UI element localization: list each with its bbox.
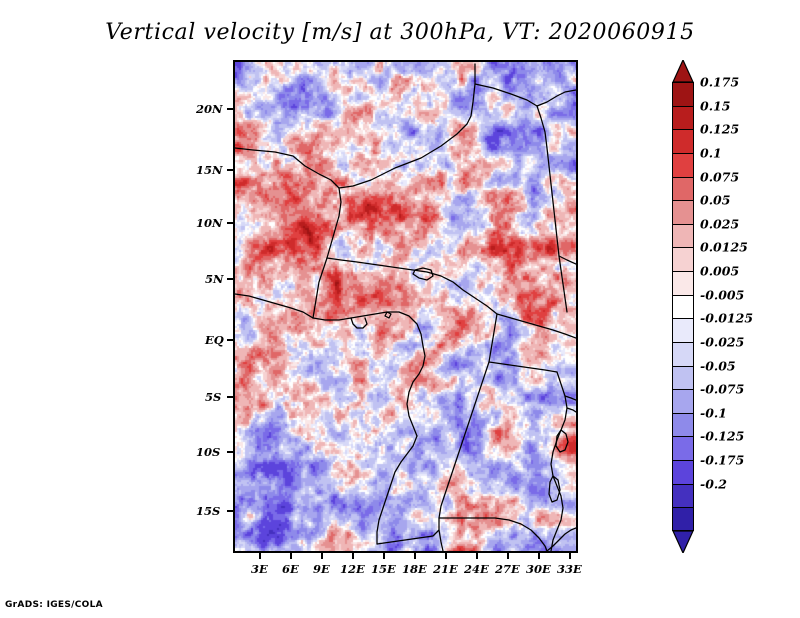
x-tick-mark — [569, 553, 571, 559]
y-axis-label-5S: 5S — [205, 390, 221, 404]
colorbar-band — [672, 129, 694, 153]
x-axis-label-27E: 27E — [495, 562, 520, 576]
y-axis-label-EQ: EQ — [205, 333, 224, 347]
page-title: Vertical velocity [m/s] at 300hPa, VT: 2… — [0, 20, 800, 45]
colorbar-band — [672, 106, 694, 130]
colorbar-band — [672, 82, 694, 106]
colorbar-band — [672, 389, 694, 413]
x-tick-mark — [538, 553, 540, 559]
x-tick-mark — [445, 553, 447, 559]
colorbar-band — [672, 271, 694, 295]
colorbar-label: 0.05 — [700, 193, 730, 208]
x-axis-label-30E: 30E — [526, 562, 551, 576]
y-tick-mark — [227, 396, 233, 398]
colorbar-label: -0.1 — [700, 405, 727, 420]
colorbar-label: -0.005 — [700, 287, 744, 302]
x-axis-label-18E: 18E — [402, 562, 427, 576]
x-axis-label-9E: 9E — [313, 562, 330, 576]
colorbar-band — [672, 342, 694, 366]
colorbar-cap-top — [672, 60, 694, 82]
colorbar-label: -0.025 — [700, 334, 744, 349]
colorbar-label: -0.075 — [700, 382, 744, 397]
footer-credit: GrADS: IGES/COLA — [5, 600, 103, 610]
map-plot-area — [233, 60, 578, 553]
y-tick-mark — [227, 451, 233, 453]
x-axis-label-21E: 21E — [433, 562, 458, 576]
colorbar-label: 0.025 — [700, 216, 739, 231]
colorbar-band — [672, 153, 694, 177]
x-axis-label-24E: 24E — [464, 562, 489, 576]
x-axis-label-12E: 12E — [340, 562, 365, 576]
colorbar-band — [672, 295, 694, 319]
y-axis-label-15N: 15N — [196, 163, 223, 177]
x-axis-label-33E: 33E — [557, 562, 582, 576]
colorbar-label: 0.1 — [700, 145, 722, 160]
colorbar-band — [672, 224, 694, 248]
y-axis-label-10N: 10N — [196, 216, 223, 230]
colorbar-label: 0.125 — [700, 122, 739, 137]
y-axis-label-10S: 10S — [196, 445, 220, 459]
y-tick-mark — [227, 222, 233, 224]
colorbar-label: 0.0125 — [700, 240, 748, 255]
x-axis-label-3E: 3E — [251, 562, 268, 576]
colorbar-band — [672, 318, 694, 342]
colorbar-label: 0.005 — [700, 264, 739, 279]
colorbar-band — [672, 413, 694, 437]
x-tick-mark — [290, 553, 292, 559]
colorbar-label: -0.0125 — [700, 311, 753, 326]
y-tick-mark — [227, 169, 233, 171]
x-axis-label-6E: 6E — [282, 562, 299, 576]
x-tick-mark — [321, 553, 323, 559]
colorbar-band — [672, 460, 694, 484]
x-tick-mark — [507, 553, 509, 559]
colorbar-band — [672, 177, 694, 201]
x-tick-mark — [476, 553, 478, 559]
x-tick-mark — [414, 553, 416, 559]
colorbar-label: -0.175 — [700, 453, 744, 468]
y-tick-mark — [227, 278, 233, 280]
colorbar-band — [672, 200, 694, 224]
x-axis-label-15E: 15E — [371, 562, 396, 576]
y-tick-mark — [227, 108, 233, 110]
colorbar-band — [672, 507, 694, 531]
x-tick-mark — [352, 553, 354, 559]
y-tick-mark — [227, 510, 233, 512]
x-tick-mark — [383, 553, 385, 559]
country-borders-overlay — [235, 62, 576, 551]
colorbar-label: 0.175 — [700, 75, 739, 90]
colorbar-label: 0.15 — [700, 98, 730, 113]
colorbar-band — [672, 436, 694, 460]
y-axis-label-15S: 15S — [196, 504, 220, 518]
y-axis-label-20N: 20N — [196, 102, 223, 116]
colorbar-label: 0.075 — [700, 169, 739, 184]
colorbar-label: -0.125 — [700, 429, 744, 444]
x-tick-mark — [259, 553, 261, 559]
colorbar-label: -0.2 — [700, 476, 727, 491]
y-axis-label-5N: 5N — [205, 272, 224, 286]
colorbar-band — [672, 484, 694, 508]
y-tick-mark — [227, 339, 233, 341]
colorbar-label: -0.05 — [700, 358, 736, 373]
colorbar-cap-bottom — [672, 531, 694, 553]
colorbar-band — [672, 366, 694, 390]
colorbar-band — [672, 247, 694, 271]
colorbar: 0.1750.150.1250.10.0750.050.0250.01250.0… — [672, 60, 694, 553]
